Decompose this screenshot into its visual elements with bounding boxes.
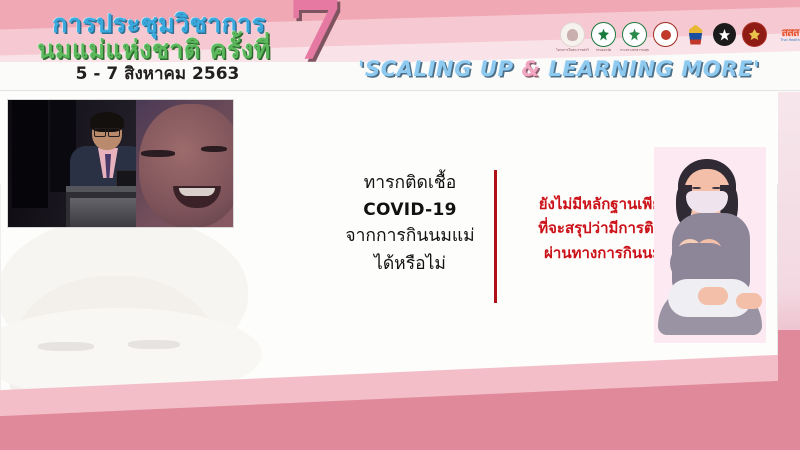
black-crest-logo [713,23,736,46]
presenter-stage-area [8,100,139,227]
question-line-4: ได้หรือไม่ [330,251,490,278]
tagline-post-text: LEARNING MORE' [540,57,760,81]
department-health-logo-caption: กระทรวงสาธารณสุข [620,48,649,53]
right-side-pink-strip-shade [778,330,800,450]
department-health-logo: กระทรวงสาธารณสุข [622,22,647,47]
conference-edition-number: 7 [287,0,344,72]
face-mask-icon [686,191,728,213]
tagline-ampersand: & [522,57,541,81]
ministry-public-health-logo-caption: กรมอนามัย [596,48,612,53]
royal-emblem-logo-caption: โครงการในพระราชดำริ [556,48,589,53]
projected-baby-eye-left [141,150,175,157]
sponsor-logo-strip: โครงการในพระราชดำริ กรมอนามัย กระทรวงสาธ… [560,22,800,47]
projected-baby-teeth [179,188,215,196]
projected-baby-eye-right [201,146,227,152]
mother-arm [670,243,730,283]
presenter-video-overlay[interactable] [8,100,233,227]
question-line-3: จากการกินนมแม่ [330,223,490,250]
projected-baby-face [139,104,233,227]
conference-date: 5 - 7 สิงหาคม 2563 [40,60,275,87]
mother-hand [698,287,728,305]
royal-emblem-logo: โครงการในพระราชดำริ [560,22,585,47]
presentation-slide: การประชุมวิชาการ นมแม่แห่งชาติ ครั้งที่ … [0,0,800,450]
tagline-pre-text: 'SCALING UP [358,57,522,81]
ministry-public-health-logo: กรมอนามัย [591,22,616,47]
watermark-eye-right [128,340,180,349]
thaihealth-logo-subtext: Thai Health [780,38,799,42]
stage-backdrop-panel-1 [12,100,48,208]
thaihealth-logo-text: สสส [781,28,798,38]
red-institute-logo [653,22,678,47]
red-crest-logo [742,22,767,47]
projection-screen-area [136,100,233,227]
breastfeeding-mother-illustration [654,147,766,343]
thaihealth-sss-logo: สสส Thai Health [773,23,800,46]
question-line-2: COVID-19 [330,197,490,223]
presenter-glasses-icon [94,128,120,135]
header-divider-rule [0,90,800,91]
question-text-block: ทารกติดเชื้อ COVID-19 จากการกินนมแม่ ได้… [330,170,490,278]
conference-header-banner: การประชุมวิชาการ นมแม่แห่งชาติ ครั้งที่ … [0,0,800,92]
conference-tagline: 'SCALING UP & LEARNING MORE' [358,57,760,81]
thai-national-emblem-logo [684,23,707,46]
question-line-1: ทารกติดเชื้อ [330,170,490,197]
mother-foot [736,293,762,309]
watermark-eye-left [38,342,94,351]
vertical-divider-line [494,170,497,303]
